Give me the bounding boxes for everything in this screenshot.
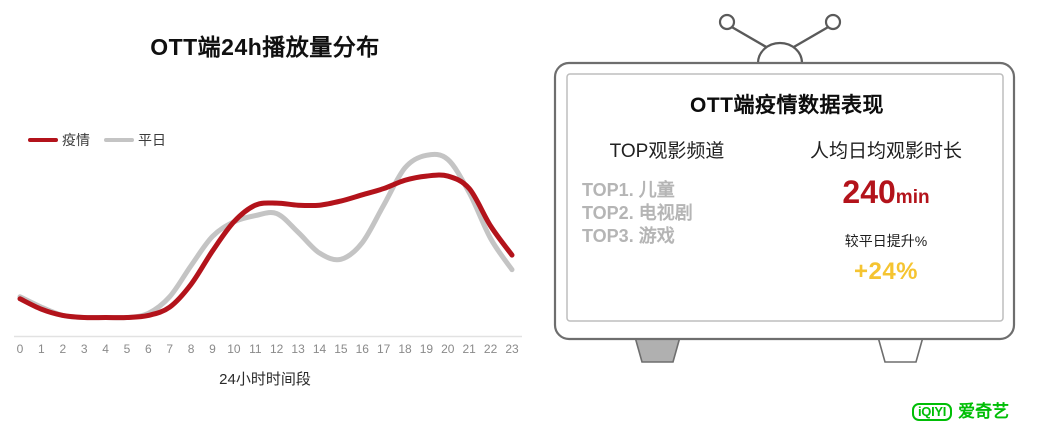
tv-column-headers: TOP观影频道 人均日均观影时长	[568, 136, 1006, 163]
x-tick-label: 19	[420, 341, 433, 357]
x-tick-label: 11	[249, 341, 261, 357]
x-tick-label: 2	[59, 341, 66, 357]
iqiyi-mark-icon: iQIYI	[912, 403, 952, 421]
x-tick-label: 14	[313, 341, 326, 357]
tv-stand-legs	[635, 337, 923, 362]
uplift-value: +24%	[766, 258, 1006, 286]
list-item: TOP2. 电视剧	[582, 202, 772, 225]
x-tick-label: 6	[145, 341, 152, 357]
x-tick-label: 23	[505, 341, 518, 357]
list-item: TOP1. 儿童	[582, 179, 772, 202]
iqiyi-wordmark: 爱奇艺	[958, 403, 1009, 421]
x-tick-label: 17	[377, 341, 390, 357]
x-tick-label: 10	[227, 341, 240, 357]
x-tick-label: 13	[291, 341, 304, 357]
list-item: TOP3. 游戏	[582, 225, 772, 248]
tv-leg-left	[635, 337, 680, 362]
x-tick-label: 8	[188, 341, 195, 357]
duration-number: 240	[842, 174, 895, 210]
series-line-epidemic	[20, 175, 512, 318]
x-tick-label: 20	[441, 341, 454, 357]
x-tick-label: 1	[38, 341, 45, 357]
tv-heading: OTT端疫情数据表现	[568, 89, 1006, 119]
column-header-top-channels: TOP观影频道	[568, 136, 766, 163]
tv-screen-content: OTT端疫情数据表现 TOP观影频道 人均日均观影时长 TOP1. 儿童 TOP…	[568, 75, 1006, 320]
tv-leg-right	[878, 337, 923, 362]
column-header-avg-duration: 人均日均观影时长	[766, 136, 1006, 163]
x-tick-label: 22	[484, 341, 497, 357]
x-tick-label: 5	[124, 341, 131, 357]
x-tick-label: 9	[209, 341, 216, 357]
slide-canvas: OTT端24h播放量分布 疫情 平日 012345678910111213141…	[0, 0, 1044, 444]
x-axis-tick-labels: 01234567891011121314151617181920212223	[0, 341, 530, 359]
chart-panel: OTT端24h播放量分布 疫情 平日 012345678910111213141…	[0, 0, 530, 444]
x-tick-label: 16	[356, 341, 369, 357]
x-tick-label: 12	[270, 341, 283, 357]
iqiyi-logo: iQIYI 爱奇艺	[912, 403, 1009, 421]
x-tick-label: 4	[102, 341, 109, 357]
tv-antenna-icon	[720, 15, 840, 63]
x-tick-label: 3	[81, 341, 88, 357]
x-tick-label: 7	[166, 341, 173, 357]
duration-value: 240min	[766, 175, 1006, 215]
x-tick-label: 15	[334, 341, 347, 357]
x-axis-title: 24小时时间段	[0, 368, 530, 389]
series-line-normal	[20, 154, 512, 317]
x-tick-label: 0	[17, 341, 24, 357]
x-tick-label: 18	[398, 341, 411, 357]
iqiyi-mark-text: iQIYI	[918, 405, 946, 419]
x-tick-label: 21	[463, 341, 476, 357]
top-channels-list: TOP1. 儿童 TOP2. 电视剧 TOP3. 游戏	[582, 179, 772, 248]
uplift-label: 较平日提升%	[766, 231, 1006, 251]
chart-plot-area	[0, 0, 530, 360]
duration-block: 240min 较平日提升% +24%	[766, 175, 1006, 286]
duration-unit: min	[896, 187, 930, 208]
tv-panel: OTT端疫情数据表现 TOP观影频道 人均日均观影时长 TOP1. 儿童 TOP…	[530, 0, 1044, 444]
